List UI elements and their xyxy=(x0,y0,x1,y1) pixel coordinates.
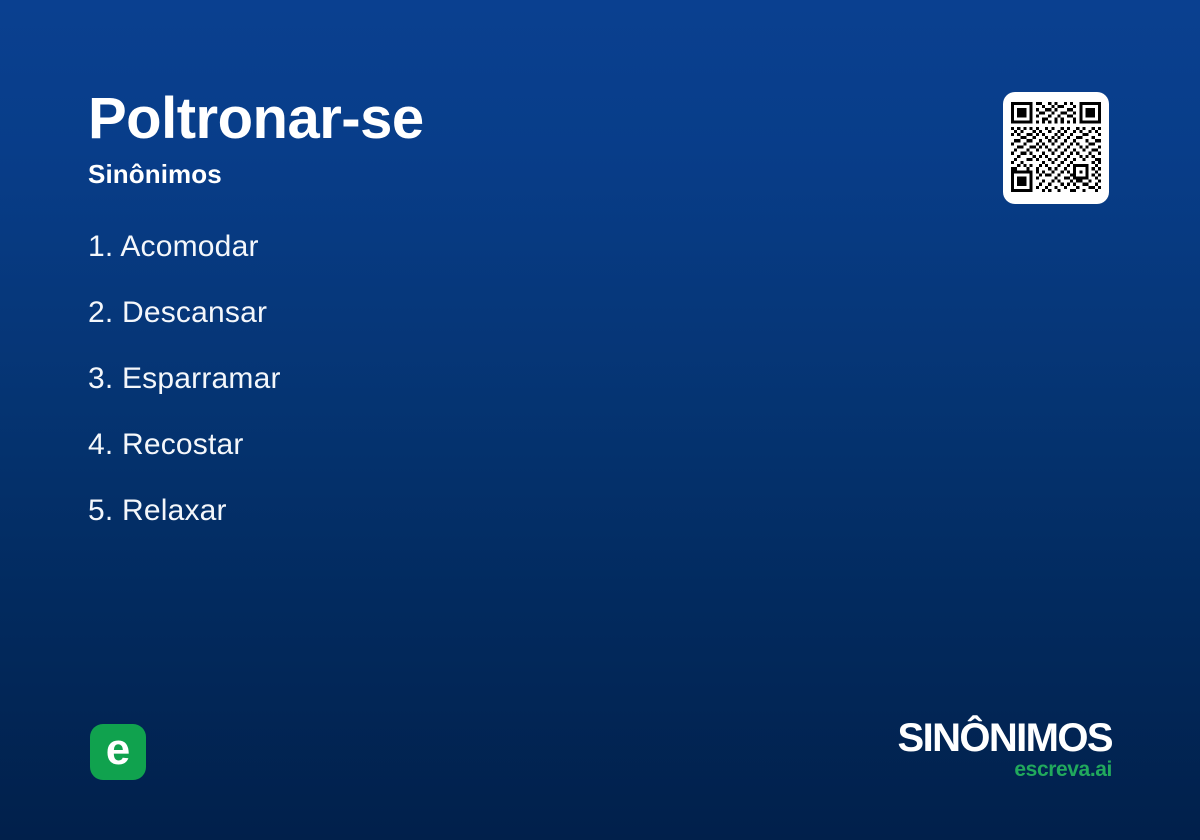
header: Poltronar-se Sinônimos xyxy=(88,88,908,190)
list-item-word: Esparramar xyxy=(122,362,281,395)
list-item-word: Acomodar xyxy=(120,230,258,263)
list-item-word: Recostar xyxy=(122,428,244,461)
list-item: 1. Acomodar xyxy=(88,232,848,262)
synonym-card: Poltronar-se Sinônimos xyxy=(0,0,1200,840)
list-item: 3. Esparramar xyxy=(88,364,848,394)
list-item: 2. Descansar xyxy=(88,298,848,328)
list-item-number: 4. xyxy=(88,428,113,461)
escreva-badge-letter: e xyxy=(106,728,130,772)
qr-code-card[interactable] xyxy=(1003,92,1109,204)
list-item: 4. Recostar xyxy=(88,430,848,460)
page-title: Poltronar-se xyxy=(88,88,908,151)
list-item-number: 3. xyxy=(88,362,113,395)
list-item-number: 1. xyxy=(88,230,113,263)
qr-code-icon xyxy=(1011,102,1101,192)
list-item-number: 2. xyxy=(88,296,113,329)
synonyms-list: 1. Acomodar 2. Descansar 3. Esparramar 4… xyxy=(88,232,848,526)
list-item-word: Relaxar xyxy=(122,494,227,527)
escreva-badge-icon: e xyxy=(90,724,146,780)
list-item-number: 5. xyxy=(88,494,113,527)
footer-wordmark: SINÔNIMOS xyxy=(897,718,1112,758)
footer-logo: SINÔNIMOS escreva.ai xyxy=(897,718,1112,781)
footer-tagline: escreva.ai xyxy=(897,759,1112,781)
page-subtitle: Sinônimos xyxy=(88,159,908,190)
list-item: 5. Relaxar xyxy=(88,496,848,526)
list-item-word: Descansar xyxy=(122,296,267,329)
